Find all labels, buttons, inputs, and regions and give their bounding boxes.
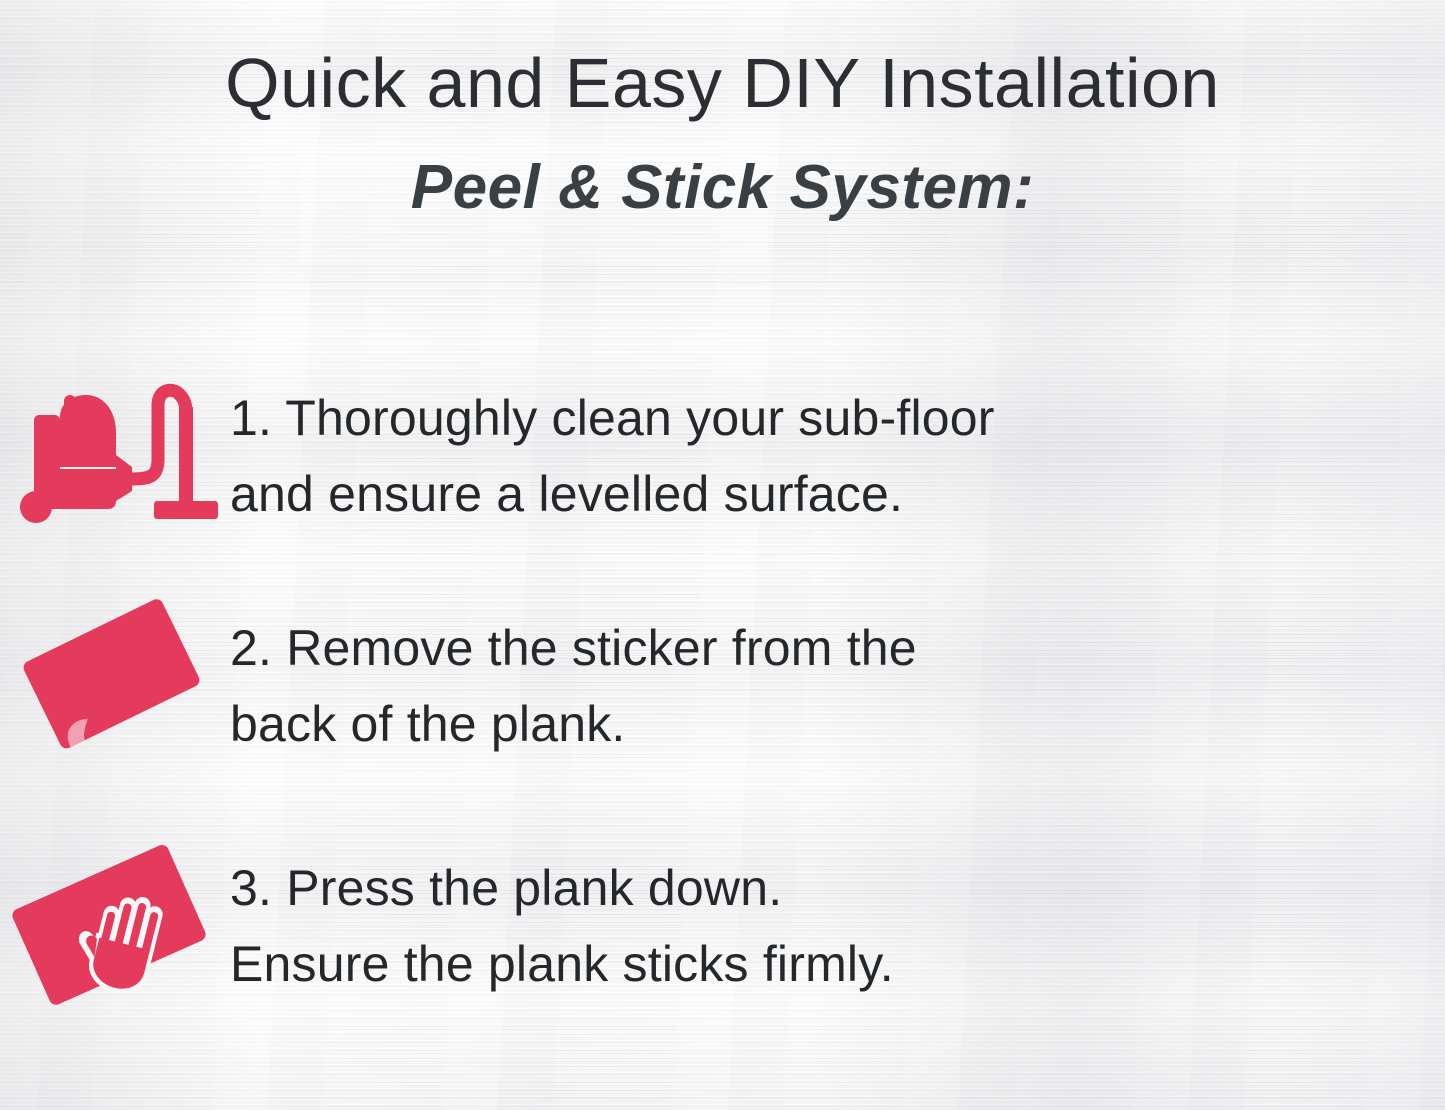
- step-item-1: 1. Thoroughly clean your sub-floor and e…: [0, 378, 1300, 532]
- vacuum-cleaner-icon: [20, 381, 210, 526]
- step-3-text: 3. Press the plank down. Ensure the plan…: [230, 848, 894, 1002]
- step-1-icon-wrapper: [0, 378, 230, 528]
- step-2-text: 2. Remove the sticker from the back of t…: [230, 608, 917, 762]
- step-item-2: 2. Remove the sticker from the back of t…: [0, 608, 1300, 762]
- step-2-icon-wrapper: [0, 608, 230, 753]
- step-1-text: 1. Thoroughly clean your sub-floor and e…: [230, 378, 995, 532]
- hand-pressing-plank-icon: [15, 851, 215, 1011]
- step-3-icon-wrapper: [0, 848, 230, 1013]
- plank-peel-sticker-icon: [20, 611, 210, 751]
- steps-list: 1. Thoroughly clean your sub-floor and e…: [0, 0, 1445, 1110]
- step-item-3: 3. Press the plank down. Ensure the plan…: [0, 848, 1300, 1013]
- installation-instructions-poster: Quick and Easy DIY Installation Peel & S…: [0, 0, 1445, 1110]
